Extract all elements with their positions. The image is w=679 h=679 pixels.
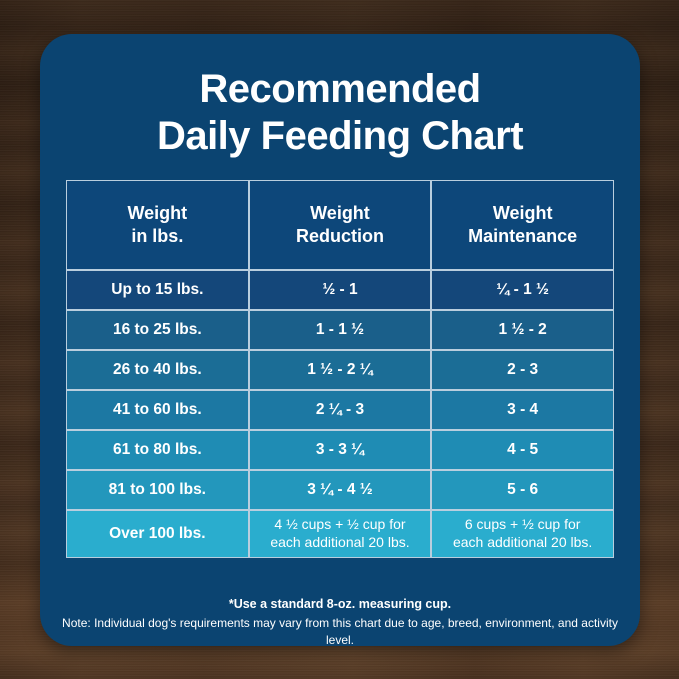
cell-weight-maintenance: ¼ - 1 ½ xyxy=(431,270,614,310)
cell-maintenance-line-1: 1 ½ - 2 xyxy=(432,321,613,339)
cell-weight: 26 to 40 lbs. xyxy=(66,350,249,390)
column-header-reduction-line-1: Weight xyxy=(250,202,431,225)
cell-weight: 81 to 100 lbs. xyxy=(66,470,249,510)
footnote-note-line-1: Note: Individual dog's requirements may … xyxy=(60,615,620,646)
cell-weight-reduction: 4 ½ cups + ½ cup for each additional 20 … xyxy=(249,510,432,558)
cell-weight: 41 to 60 lbs. xyxy=(66,390,249,430)
table-header: Weight in lbs. Weight Reduction Weight M… xyxy=(66,180,614,270)
cell-maintenance-line-1: 4 - 5 xyxy=(432,441,613,459)
cell-weight: Up to 15 lbs. xyxy=(66,270,249,310)
cell-weight-maintenance: 1 ½ - 2 xyxy=(431,310,614,350)
feeding-chart-card: Recommended Daily Feeding Chart Weight i… xyxy=(40,34,640,646)
cell-reduction-line-2: each additional 20 lbs. xyxy=(250,534,431,552)
cell-weight: Over 100 lbs. xyxy=(66,510,249,558)
table-body: Up to 15 lbs. ½ - 1 ¼ - 1 ½ 16 to 25 lbs… xyxy=(66,270,614,558)
column-header-maintenance-line-1: Weight xyxy=(432,202,613,225)
footnotes: *Use a standard 8-oz. measuring cup. Not… xyxy=(60,596,620,646)
cell-maintenance-line-1: ¼ - 1 ½ xyxy=(432,281,613,299)
table-row: 61 to 80 lbs. 3 - 3 ¼ 4 - 5 xyxy=(66,430,614,470)
table-row: 26 to 40 lbs. 1 ½ - 2 ¼ 2 - 3 xyxy=(66,350,614,390)
table-row: Up to 15 lbs. ½ - 1 ¼ - 1 ½ xyxy=(66,270,614,310)
cell-weight-reduction: 3 ¼ - 4 ½ xyxy=(249,470,432,510)
cell-reduction-line-1: ½ - 1 xyxy=(250,281,431,299)
page-title-line-2: Daily Feeding Chart xyxy=(74,113,606,160)
column-header-weight-maintenance: Weight Maintenance xyxy=(431,180,614,270)
column-header-maintenance-line-2: Maintenance xyxy=(432,225,613,248)
cell-weight-maintenance: 4 - 5 xyxy=(431,430,614,470)
column-header-reduction-line-2: Reduction xyxy=(250,225,431,248)
cell-reduction-line-1: 1 - 1 ½ xyxy=(250,321,431,339)
table-header-row: Weight in lbs. Weight Reduction Weight M… xyxy=(66,180,614,270)
column-header-weight: Weight in lbs. xyxy=(66,180,249,270)
cell-weight-maintenance: 6 cups + ½ cup for each additional 20 lb… xyxy=(431,510,614,558)
cell-maintenance-line-1: 3 - 4 xyxy=(432,401,613,419)
cell-maintenance-line-1: 2 - 3 xyxy=(432,361,613,379)
cell-weight-reduction: 1 ½ - 2 ¼ xyxy=(249,350,432,390)
cell-reduction-line-1: 1 ½ - 2 ¼ xyxy=(250,361,431,379)
table-row: 16 to 25 lbs. 1 - 1 ½ 1 ½ - 2 xyxy=(66,310,614,350)
table-row: 41 to 60 lbs. 2 ¼ - 3 3 - 4 xyxy=(66,390,614,430)
cell-maintenance-line-1: 6 cups + ½ cup for xyxy=(432,516,613,534)
table-row: 81 to 100 lbs. 3 ¼ - 4 ½ 5 - 6 xyxy=(66,470,614,510)
cell-weight-reduction: ½ - 1 xyxy=(249,270,432,310)
column-header-weight-reduction: Weight Reduction xyxy=(249,180,432,270)
cell-maintenance-line-2: each additional 20 lbs. xyxy=(432,534,613,552)
page-title-line-1: Recommended xyxy=(74,66,606,113)
cell-reduction-line-1: 4 ½ cups + ½ cup for xyxy=(250,516,431,534)
cell-weight-reduction: 2 ¼ - 3 xyxy=(249,390,432,430)
cell-reduction-line-1: 3 - 3 ¼ xyxy=(250,441,431,459)
column-header-weight-line-1: Weight xyxy=(67,202,248,225)
cell-reduction-line-1: 3 ¼ - 4 ½ xyxy=(250,481,431,499)
cell-weight-maintenance: 5 - 6 xyxy=(431,470,614,510)
page-title: Recommended Daily Feeding Chart xyxy=(40,34,640,160)
column-header-weight-line-2: in lbs. xyxy=(67,225,248,248)
cell-maintenance-line-1: 5 - 6 xyxy=(432,481,613,499)
cell-weight: 16 to 25 lbs. xyxy=(66,310,249,350)
cell-weight-reduction: 1 - 1 ½ xyxy=(249,310,432,350)
cell-weight-maintenance: 3 - 4 xyxy=(431,390,614,430)
table-row: Over 100 lbs. 4 ½ cups + ½ cup for each … xyxy=(66,510,614,558)
cell-weight: 61 to 80 lbs. xyxy=(66,430,249,470)
feeding-chart-table: Weight in lbs. Weight Reduction Weight M… xyxy=(66,180,614,558)
footnote-measuring-cup: *Use a standard 8-oz. measuring cup. xyxy=(60,596,620,612)
cell-weight-reduction: 3 - 3 ¼ xyxy=(249,430,432,470)
cell-reduction-line-1: 2 ¼ - 3 xyxy=(250,401,431,419)
cell-weight-maintenance: 2 - 3 xyxy=(431,350,614,390)
